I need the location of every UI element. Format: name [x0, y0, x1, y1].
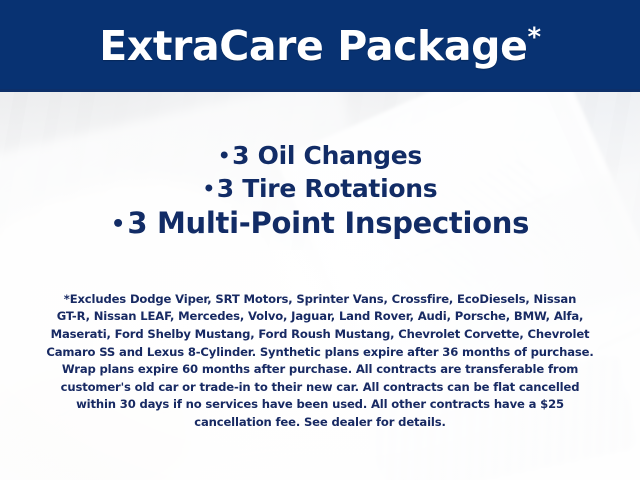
disclaimer-line: GT-R, Nissan LEAF, Mercedes, Volvo, Jagu… [26, 308, 614, 326]
disclaimer-line: cancellation fee. See dealer for details… [26, 414, 614, 432]
bullet-icon: • [218, 144, 230, 167]
benefit-item-tire-rotations: •3 Tire Rotations [0, 173, 640, 206]
benefits-list: •3 Oil Changes •3 Tire Rotations •3 Mult… [0, 140, 640, 243]
disclaimer-line: Maserati, Ford Shelby Mustang, Ford Rous… [26, 326, 614, 344]
bullet-icon: • [111, 211, 125, 237]
page-title: ExtraCare Package* [99, 26, 540, 67]
footnote-asterisk: * [528, 22, 541, 52]
extracare-package-ad: ExtraCare Package* •3 Oil Changes •3 Tir… [0, 0, 640, 480]
benefit-item-multi-point-inspections: •3 Multi-Point Inspections [0, 205, 640, 243]
header-banner: ExtraCare Package* [0, 0, 640, 92]
disclaimer-line: within 30 days if no services have been … [26, 396, 614, 414]
bullet-icon: • [203, 177, 215, 200]
page-title-text: ExtraCare Package [99, 22, 527, 70]
disclaimer-line: customer's old car or trade-in to their … [26, 379, 614, 397]
benefit-label: 3 Oil Changes [232, 141, 422, 170]
disclaimer-line: *Excludes Dodge Viper, SRT Motors, Sprin… [26, 291, 614, 309]
benefit-label: 3 Multi-Point Inspections [127, 206, 529, 240]
disclaimer-line: Camaro SS and Lexus 8-Cylinder. Syntheti… [26, 344, 614, 362]
disclaimer-line: Wrap plans expire 60 months after purcha… [26, 361, 614, 379]
disclaimer-text: *Excludes Dodge Viper, SRT Motors, Sprin… [0, 291, 640, 432]
benefit-item-oil-changes: •3 Oil Changes [0, 140, 640, 173]
benefit-label: 3 Tire Rotations [217, 174, 438, 203]
